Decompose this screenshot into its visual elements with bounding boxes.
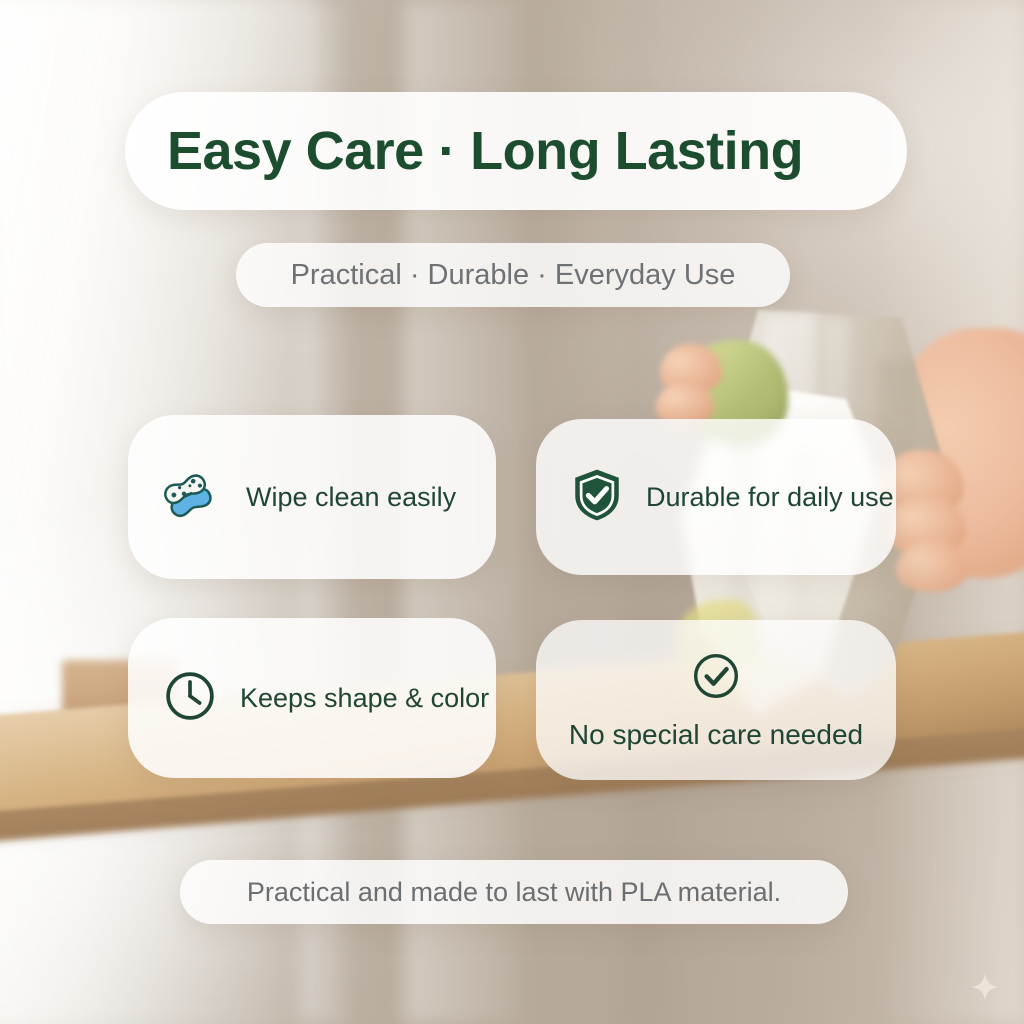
title-banner: Easy Care · Long Lasting — [125, 92, 907, 210]
sparkle-icon — [970, 972, 1000, 1002]
feature-card-no-special-care[interactable]: No special care needed — [536, 620, 896, 780]
shield-check-icon — [568, 466, 626, 529]
circle-check-icon — [690, 650, 742, 707]
feature-label: Wipe clean easily — [246, 482, 456, 513]
feature-label: No special care needed — [569, 719, 863, 751]
feature-card-wipe-clean[interactable]: Wipe clean easily — [128, 415, 496, 579]
clock-icon — [162, 668, 218, 729]
subtitle-banner: Practical · Durable · Everyday Use — [236, 243, 790, 307]
footer-text: Practical and made to last with PLA mate… — [247, 877, 781, 908]
sponge-icon — [162, 464, 224, 531]
feature-card-keeps-shape[interactable]: Keeps shape & color — [128, 618, 496, 778]
page-subtitle: Practical · Durable · Everyday Use — [291, 259, 736, 292]
footer-banner: Practical and made to last with PLA mate… — [180, 860, 848, 924]
feature-label: Durable for daily use — [646, 482, 894, 513]
finger — [896, 540, 968, 592]
feature-label: Keeps shape & color — [240, 683, 489, 714]
feature-card-durable[interactable]: Durable for daily use — [536, 419, 896, 575]
page-title: Easy Care · Long Lasting — [125, 120, 803, 182]
